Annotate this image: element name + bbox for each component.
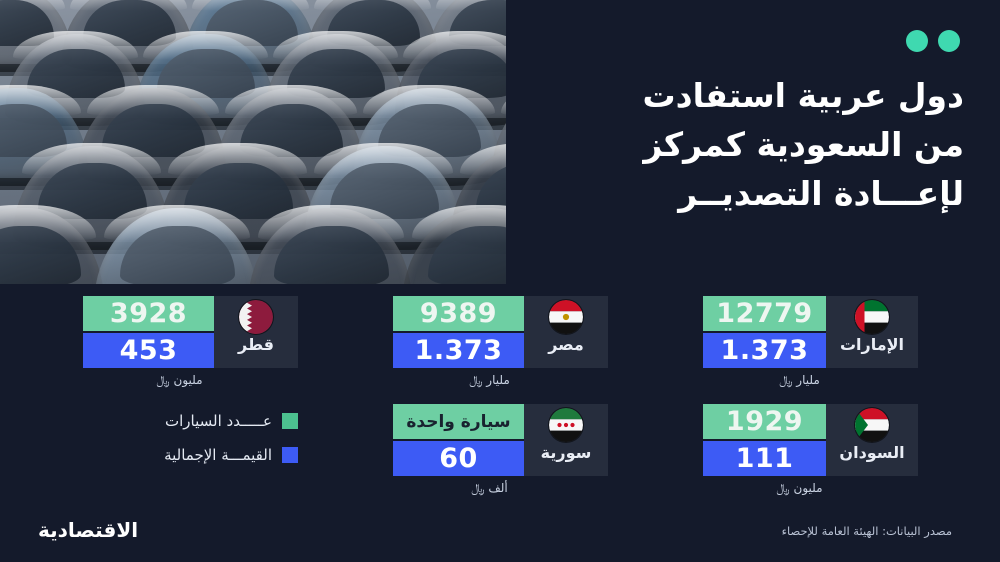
- country-name: سورية: [541, 445, 592, 461]
- country-id-sudan: السودان: [826, 404, 918, 476]
- total-value-bar: 1.373: [393, 333, 524, 368]
- legend-label: عـــــدد السيارات: [165, 412, 272, 430]
- unit-label: مليون ﷼: [83, 373, 298, 388]
- legend-item-cars: عـــــدد السيارات: [83, 404, 298, 438]
- unit-label: مليار ﷼: [393, 373, 608, 388]
- syria-flag-icon: [549, 408, 583, 442]
- headline-panel: دول عربية استفادت من السعودية كمركز لإعـ…: [506, 0, 1000, 284]
- value-bars: 1929 111: [703, 404, 826, 476]
- data-source-note: مصدر البيانات: الهيئة العامة للإحصاء: [782, 524, 952, 538]
- sudan-flag-icon: [855, 408, 889, 442]
- legend-swatch-blue-icon: [282, 447, 298, 463]
- card-sudan: السودان 1929 111 مليون ﷼: [703, 404, 918, 496]
- cars-count-bar: 9389: [393, 296, 524, 331]
- value-bars: 12779 1.373: [703, 296, 826, 368]
- country-id-qatar: قطر: [214, 296, 298, 368]
- total-value-bar: 1.373: [703, 333, 826, 368]
- card-uae: الإمارات 12779 1.373 مليار ﷼: [703, 296, 918, 388]
- value-bars: 9389 1.373: [393, 296, 524, 368]
- unit-label: مليار ﷼: [703, 373, 918, 388]
- card-qatar: قطر 3928 453 مليون ﷼: [83, 296, 298, 388]
- country-id-syria: سورية: [524, 404, 608, 476]
- brand-dots: [906, 30, 960, 52]
- headline-line-3: لإعـــادة التصديــر: [534, 170, 964, 219]
- total-value-bar: 111: [703, 441, 826, 476]
- country-name: قطر: [238, 337, 274, 353]
- page-title: دول عربية استفادت من السعودية كمركز لإعـ…: [534, 72, 964, 218]
- chart-legend: عـــــدد السيارات القيمـــة الإجمالية: [83, 404, 298, 472]
- card-syria: سورية سيارة واحدة 60 ألف ﷼: [393, 404, 608, 496]
- unit-label: مليون ﷼: [703, 481, 918, 496]
- card-egypt: مصر 9389 1.373 مليار ﷼: [393, 296, 608, 388]
- value-bars: سيارة واحدة 60: [393, 404, 524, 476]
- legend-item-value: القيمـــة الإجمالية: [83, 438, 298, 472]
- unit-label: ألف ﷼: [393, 481, 608, 496]
- qatar-flag-icon: [239, 300, 273, 334]
- value-bars: 3928 453: [83, 296, 214, 368]
- headline-line-1: دول عربية استفادت: [534, 72, 964, 121]
- cars-count-bar: سيارة واحدة: [393, 404, 524, 439]
- country-id-egypt: مصر: [524, 296, 608, 368]
- cars-count-bar: 1929: [703, 404, 826, 439]
- infographic-root: دول عربية استفادت من السعودية كمركز لإعـ…: [0, 0, 1000, 562]
- headline-line-2: من السعودية كمركز: [534, 121, 964, 170]
- cars-count-bar: 12779: [703, 296, 826, 331]
- hero-image-car-lot: [0, 0, 506, 284]
- country-name: السودان: [839, 445, 904, 461]
- country-name: مصر: [548, 337, 584, 353]
- legend-swatch-green-icon: [282, 413, 298, 429]
- total-value-bar: 453: [83, 333, 214, 368]
- publisher-logo: الاقتصادية: [38, 518, 138, 542]
- total-value-bar: 60: [393, 441, 524, 476]
- country-name: الإمارات: [840, 337, 904, 353]
- legend-label: القيمـــة الإجمالية: [164, 446, 272, 464]
- egypt-flag-icon: [549, 300, 583, 334]
- uae-flag-icon: [855, 300, 889, 334]
- brand-dot-icon: [938, 30, 960, 52]
- brand-dot-icon: [906, 30, 928, 52]
- country-id-uae: الإمارات: [826, 296, 918, 368]
- cars-count-bar: 3928: [83, 296, 214, 331]
- data-card-grid: قطر 3928 453 مليون ﷼: [0, 286, 1000, 516]
